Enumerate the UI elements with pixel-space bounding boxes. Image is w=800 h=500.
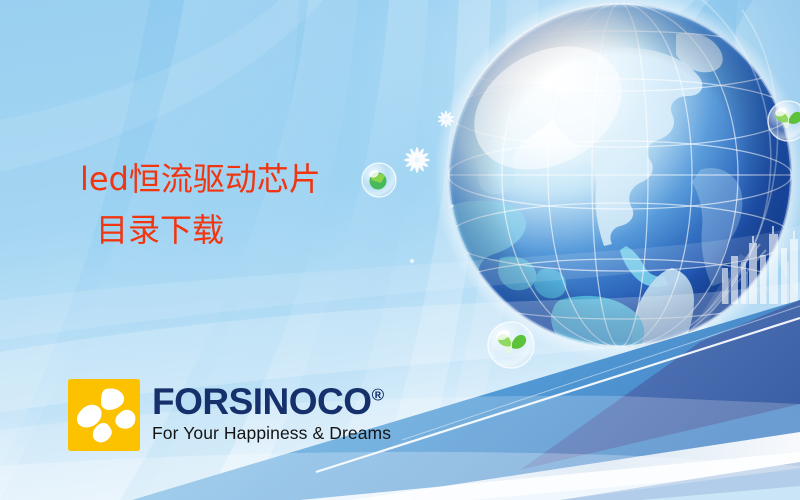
forsinoco-mark-icon: [68, 379, 140, 451]
registered-trademark-icon: ®: [372, 386, 384, 405]
logo-wordmark-text: FORSINOCO: [152, 381, 372, 422]
brand-logo: FORSINOCO® For Your Happiness & Dreams: [68, 379, 391, 451]
pinwheel-petals-icon: [68, 379, 140, 451]
headline-block: led恒流驱动芯片 目录下载: [80, 160, 480, 250]
orbit-arcs: [676, 0, 778, 340]
headline-line-1: led恒流驱动芯片: [80, 160, 480, 199]
poster-canvas: led恒流驱动芯片 目录下载 FORSINOCO® For Your Happi…: [0, 0, 800, 500]
city-skyline-icon: [686, 226, 798, 342]
ribbon-group-bottom: [0, 226, 800, 500]
earth-globe-icon: [426, 0, 800, 419]
ribbon-group-right: [666, 0, 800, 470]
logo-wordmark: FORSINOCO®: [152, 383, 391, 420]
logo-tagline: For Your Happiness & Dreams: [152, 425, 391, 443]
logo-text-block: FORSINOCO® For Your Happiness & Dreams: [152, 379, 391, 443]
headline-line-2: 目录下载: [80, 211, 480, 250]
